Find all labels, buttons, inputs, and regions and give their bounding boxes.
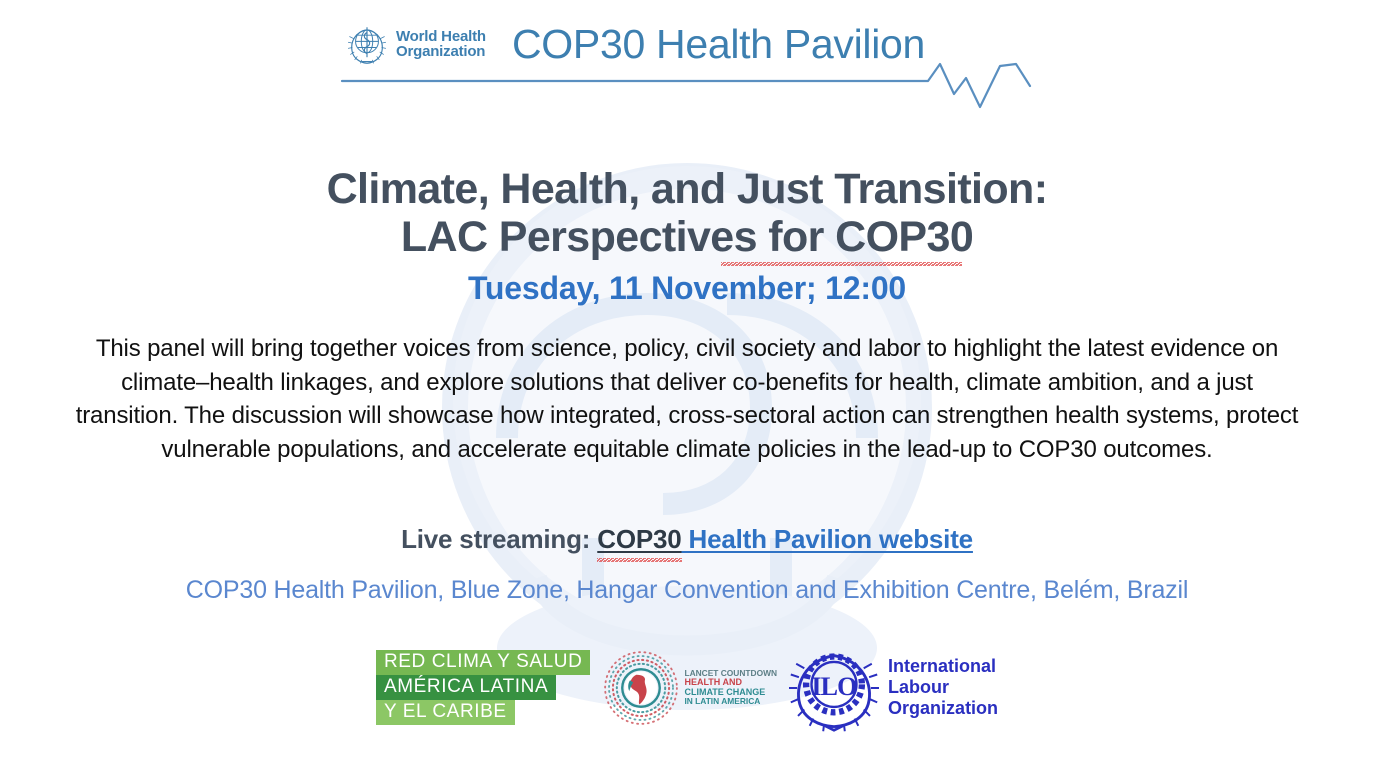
rcs-line3: Y EL CARIBE — [376, 700, 515, 725]
page-title-line2-wrap: LAC Perspectives for COP30 — [401, 213, 973, 261]
slide-canvas: World Health Organization COP30 Health P… — [0, 0, 1374, 774]
page-title-line2: LAC Perspectives for COP30 — [401, 213, 973, 261]
ilo-line1: International — [888, 656, 998, 677]
event-description: This panel will bring together voices fr… — [72, 332, 1302, 466]
rcs-line1: RED CLIMA Y SALUD — [376, 650, 591, 675]
health-pavilion-website-link[interactable]: Health Pavilion website — [682, 524, 973, 554]
spellcheck-squiggle — [597, 558, 681, 562]
live-streaming-label: Live streaming: — [401, 524, 597, 554]
venue-location: COP30 Health Pavilion, Blue Zone, Hangar… — [0, 576, 1374, 605]
live-streaming-line: Live streaming: COP30 Health Pavilion we… — [0, 524, 1374, 555]
ilo-line2: Labour — [888, 677, 998, 698]
event-date-time: Tuesday, 11 November; 12:00 — [0, 270, 1374, 307]
lancet-line4: IN LATIN AMERICA — [684, 697, 777, 707]
page-title-line1: Climate, Health, and Just Transition: — [0, 165, 1374, 213]
stream-cop-wrap: COP30 — [597, 524, 681, 555]
globe-dotted-rings-icon — [602, 649, 680, 727]
logo-international-labour-organization: ILO International Labour Organization — [789, 643, 998, 733]
page-title: Climate, Health, and Just Transition: LA… — [0, 165, 1374, 261]
stream-cop-text: COP30 — [597, 524, 681, 554]
rcs-line2: AMÉRICA LATINA — [376, 675, 556, 700]
ilo-gear-laurel-emblem-icon: ILO — [789, 643, 879, 733]
partner-logos: RED CLIMA Y SALUD AMÉRICA LATINA Y EL CA… — [0, 640, 1374, 735]
svg-text:ILO: ILO — [811, 672, 857, 701]
ilo-line3: Organization — [888, 698, 998, 719]
spellcheck-squiggle — [721, 262, 961, 266]
logo-lancet-countdown: LANCET COUNTDOWN HEALTH AND CLIMATE CHAN… — [602, 649, 777, 727]
logo-red-clima-y-salud: RED CLIMA Y SALUD AMÉRICA LATINA Y EL CA… — [376, 650, 591, 725]
